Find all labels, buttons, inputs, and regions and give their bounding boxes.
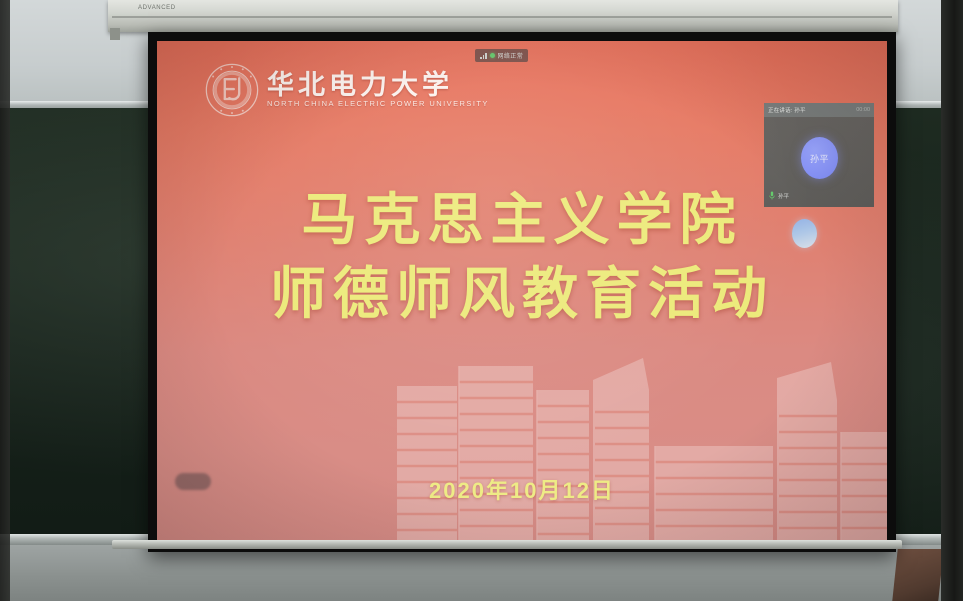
active-speaker-label: 正在讲话: 孙平: [768, 106, 806, 114]
desk-corner: [892, 549, 943, 601]
university-logo-lockup: 华北电力大学 NORTH CHINA ELECTRIC POWER UNIVER…: [205, 63, 489, 117]
ncepu-seal-icon: [205, 63, 259, 117]
projection-screen: 华北电力大学 NORTH CHINA ELECTRIC POWER UNIVER…: [148, 32, 896, 552]
projection-artifact: [175, 473, 211, 490]
status-dot-icon: [490, 53, 495, 58]
university-name-cn: 华北电力大学: [267, 72, 489, 99]
chalkboard-frame-right: [941, 0, 963, 601]
university-name-en: NORTH CHINA ELECTRIC POWER UNIVERSITY: [267, 100, 489, 108]
network-status-chip: 网络正常: [475, 49, 528, 62]
slide-title-line-1: 马克思主义学院: [157, 183, 887, 257]
classroom-photo: ADVANCED: [0, 0, 963, 601]
slide-title-line-2: 师德师风教育活动: [157, 257, 887, 331]
chalkboard-frame-left: [0, 0, 10, 601]
slide-date: 2020年10月12日: [157, 473, 887, 505]
university-name-block: 华北电力大学 NORTH CHINA ELECTRIC POWER UNIVER…: [267, 72, 489, 108]
video-conference-header: 正在讲话: 孙平 00:00: [764, 103, 874, 117]
slide-title: 马克思主义学院 师德师风教育活动: [157, 183, 887, 331]
valance-brand-label: ADVANCED: [138, 5, 176, 11]
campus-buildings-watermark: [397, 328, 887, 543]
projector-screen-weight-bar: [112, 540, 902, 549]
avatar-initials: 孙平: [810, 152, 829, 165]
meeting-elapsed-time: 00:00: [856, 107, 870, 113]
valance-bracket: [110, 28, 120, 40]
signal-bars-icon: [480, 52, 487, 59]
avatar: 孙平: [801, 137, 838, 179]
network-status-label: 网络正常: [498, 51, 524, 60]
wall-lower: [0, 545, 963, 601]
presentation-slide: 华北电力大学 NORTH CHINA ELECTRIC POWER UNIVER…: [157, 41, 887, 543]
valance-seam: [112, 16, 892, 18]
